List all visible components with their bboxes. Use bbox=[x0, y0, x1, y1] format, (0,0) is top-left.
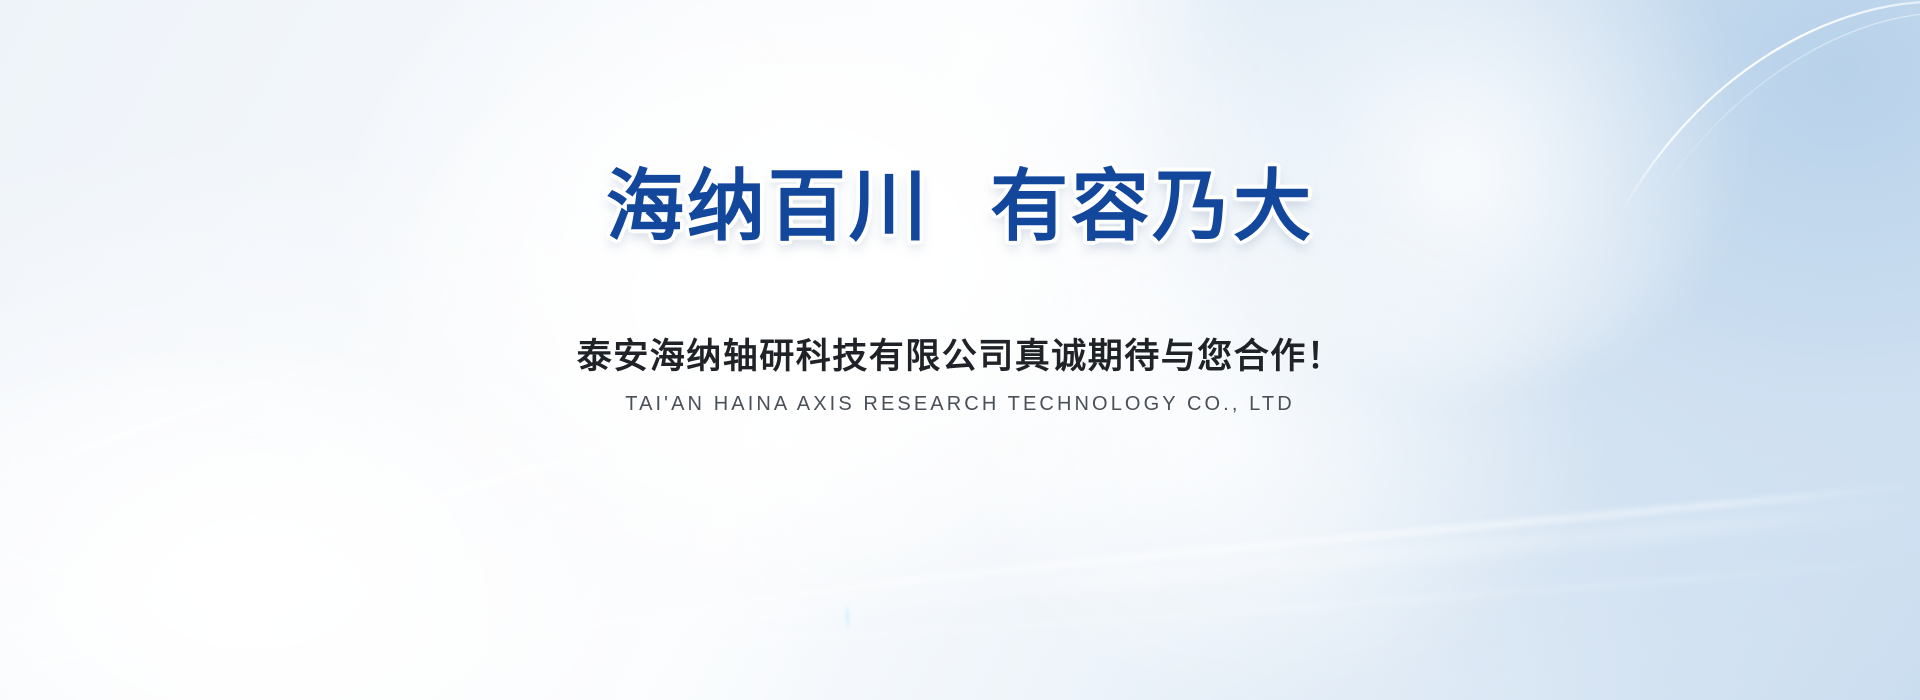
banner-subtitle-chinese: 泰安海纳轴研科技有限公司真诚期待与您合作！ bbox=[577, 328, 1344, 379]
banner-headline: 海纳百川 有容乃大 bbox=[606, 168, 1314, 246]
banner-content: 海纳百川 有容乃大 泰安海纳轴研科技有限公司真诚期待与您合作！ TAI'AN H… bbox=[0, 0, 1920, 700]
hero-banner: 海纳百川 有容乃大 泰安海纳轴研科技有限公司真诚期待与您合作！ TAI'AN H… bbox=[0, 0, 1920, 700]
banner-subtitle-english: TAI'AN HAINA AXIS RESEARCH TECHNOLOGY CO… bbox=[625, 393, 1295, 416]
